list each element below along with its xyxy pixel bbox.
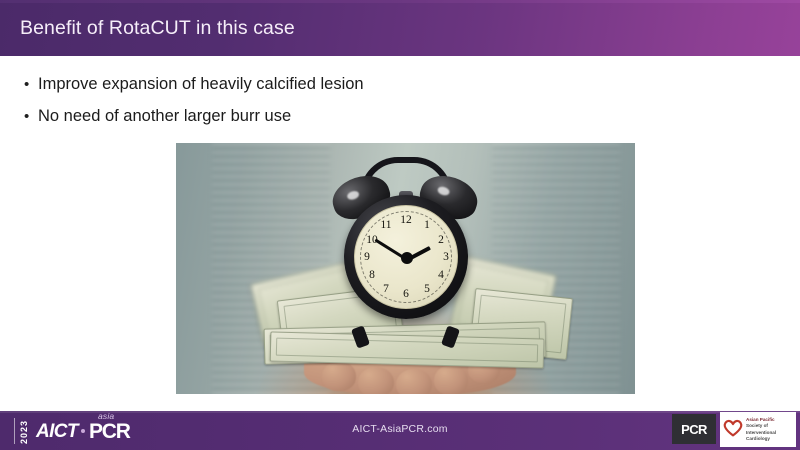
apsic-line-3: Interventional (746, 430, 776, 436)
bell-highlight (346, 190, 360, 201)
clock-foot (441, 325, 460, 348)
alarm-clock: 12 1 2 3 4 5 6 7 8 9 10 11 (326, 151, 486, 351)
clock-center-pin (401, 252, 413, 264)
clock-numeral: 7 (378, 283, 394, 295)
clock-numeral: 11 (378, 219, 394, 231)
finger (434, 365, 468, 394)
bullet-marker-icon: • (24, 72, 38, 97)
clock-face: 12 1 2 3 4 5 6 7 8 9 10 11 (354, 205, 458, 309)
apsic-society-logo[interactable]: Asian Pacific Society of Interventional … (720, 412, 796, 447)
clock-numeral: 1 (419, 219, 435, 231)
clock-numeral: 5 (419, 283, 435, 295)
page-title: Benefit of RotaCUT in this case (20, 17, 295, 40)
list-item: • Improve expansion of heavily calcified… (24, 72, 624, 97)
pcr-badge-logo[interactable]: PCR (672, 414, 716, 444)
slide-title-bar: Benefit of RotaCUT in this case (0, 0, 800, 56)
bullet-text: Improve expansion of heavily calcified l… (38, 72, 364, 97)
bullet-marker-icon: • (24, 104, 38, 129)
finger (358, 367, 394, 394)
clock-case: 12 1 2 3 4 5 6 7 8 9 10 11 (344, 195, 468, 319)
list-item: • No need of another larger burr use (24, 104, 624, 129)
clock-numeral: 9 (359, 251, 375, 263)
clock-numeral: 6 (398, 288, 414, 300)
apsic-society-text: Asian Pacific Society of Interventional … (746, 417, 776, 443)
clock-foot (351, 325, 370, 348)
clock-numeral: 3 (438, 251, 454, 263)
clock-numeral: 8 (364, 269, 380, 281)
slide-photo-clock-and-money: 12 1 2 3 4 5 6 7 8 9 10 11 (176, 143, 635, 394)
finger (396, 369, 432, 394)
clock-numeral: 2 (433, 234, 449, 246)
heart-icon (723, 418, 743, 442)
bullet-text: No need of another larger burr use (38, 104, 291, 129)
clock-numeral: 12 (398, 214, 414, 226)
apsic-line-4: Cardiology (746, 436, 776, 442)
logo-asia-word: asia (98, 412, 114, 421)
pcr-badge-label: PCR (681, 422, 707, 437)
finger (322, 361, 356, 391)
slide-canvas: Benefit of RotaCUT in this case • Improv… (0, 0, 800, 450)
bullet-list: • Improve expansion of heavily calcified… (24, 72, 624, 136)
clock-numeral: 4 (433, 269, 449, 281)
bell-highlight (437, 185, 451, 196)
